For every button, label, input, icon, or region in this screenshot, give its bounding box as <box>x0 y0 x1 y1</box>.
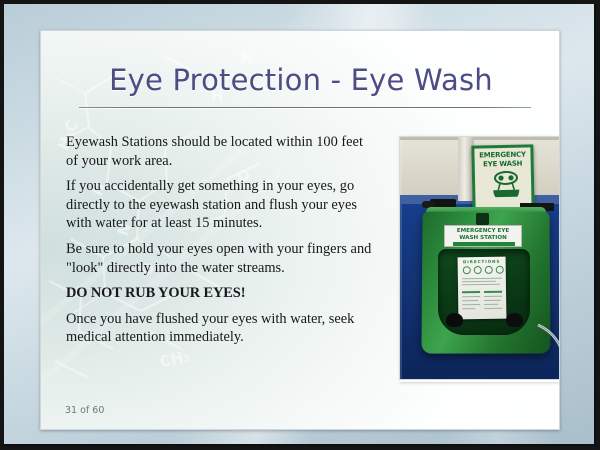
body-paragraph: Once you have flushed your eyes with wat… <box>66 310 376 347</box>
body-paragraph: Be sure to hold your eyes open with your… <box>66 240 376 277</box>
emergency-eye-wash-wall-sign: EMERGENCY EYE WASH KEEP AREA CLEAR <box>471 144 534 211</box>
sign-line-2: EYE WASH <box>475 159 531 168</box>
unit-cap <box>476 213 489 225</box>
unit-label-line-1: EMERGENCY EYE <box>445 228 521 234</box>
eyewash-station-photo: EMERGENCY EYE WASH KEEP AREA CLEAR <box>399 136 560 380</box>
unit-label-bar <box>453 242 515 246</box>
unit-label-line-2: WASH STATION <box>445 235 521 241</box>
slide-viewer: H₃C N N H O N CH₃ O Eye Protection - Eye… <box>0 0 600 450</box>
slide-body: Eyewash Stations should be located withi… <box>66 133 376 354</box>
body-paragraph: Eyewash Stations should be located withi… <box>66 133 376 170</box>
eye-wash-pictogram-icon <box>489 171 524 198</box>
drain-hose <box>536 323 560 380</box>
directions-placard: DIRECTIONS <box>458 257 507 320</box>
viewer-frame: H₃C N N H O N CH₃ O Eye Protection - Eye… <box>4 4 596 446</box>
slide-canvas: H₃C N N H O N CH₃ O Eye Protection - Eye… <box>40 30 560 430</box>
directions-placard-title: DIRECTIONS <box>458 259 506 265</box>
unit-label-plate: EMERGENCY EYE WASH STATION <box>444 225 522 247</box>
body-paragraph: If you accidentally get something in you… <box>66 177 376 233</box>
title-divider <box>79 107 531 108</box>
page-title: Eye Protection - Eye Wash <box>41 63 560 97</box>
right-spray-nozzle <box>506 313 523 327</box>
warning-paragraph: DO NOT RUB YOUR EYES! <box>66 284 376 303</box>
page-indicator: 31 of 60 <box>65 405 104 416</box>
sign-line-1: EMERGENCY <box>474 150 530 159</box>
left-spray-nozzle <box>446 313 463 327</box>
